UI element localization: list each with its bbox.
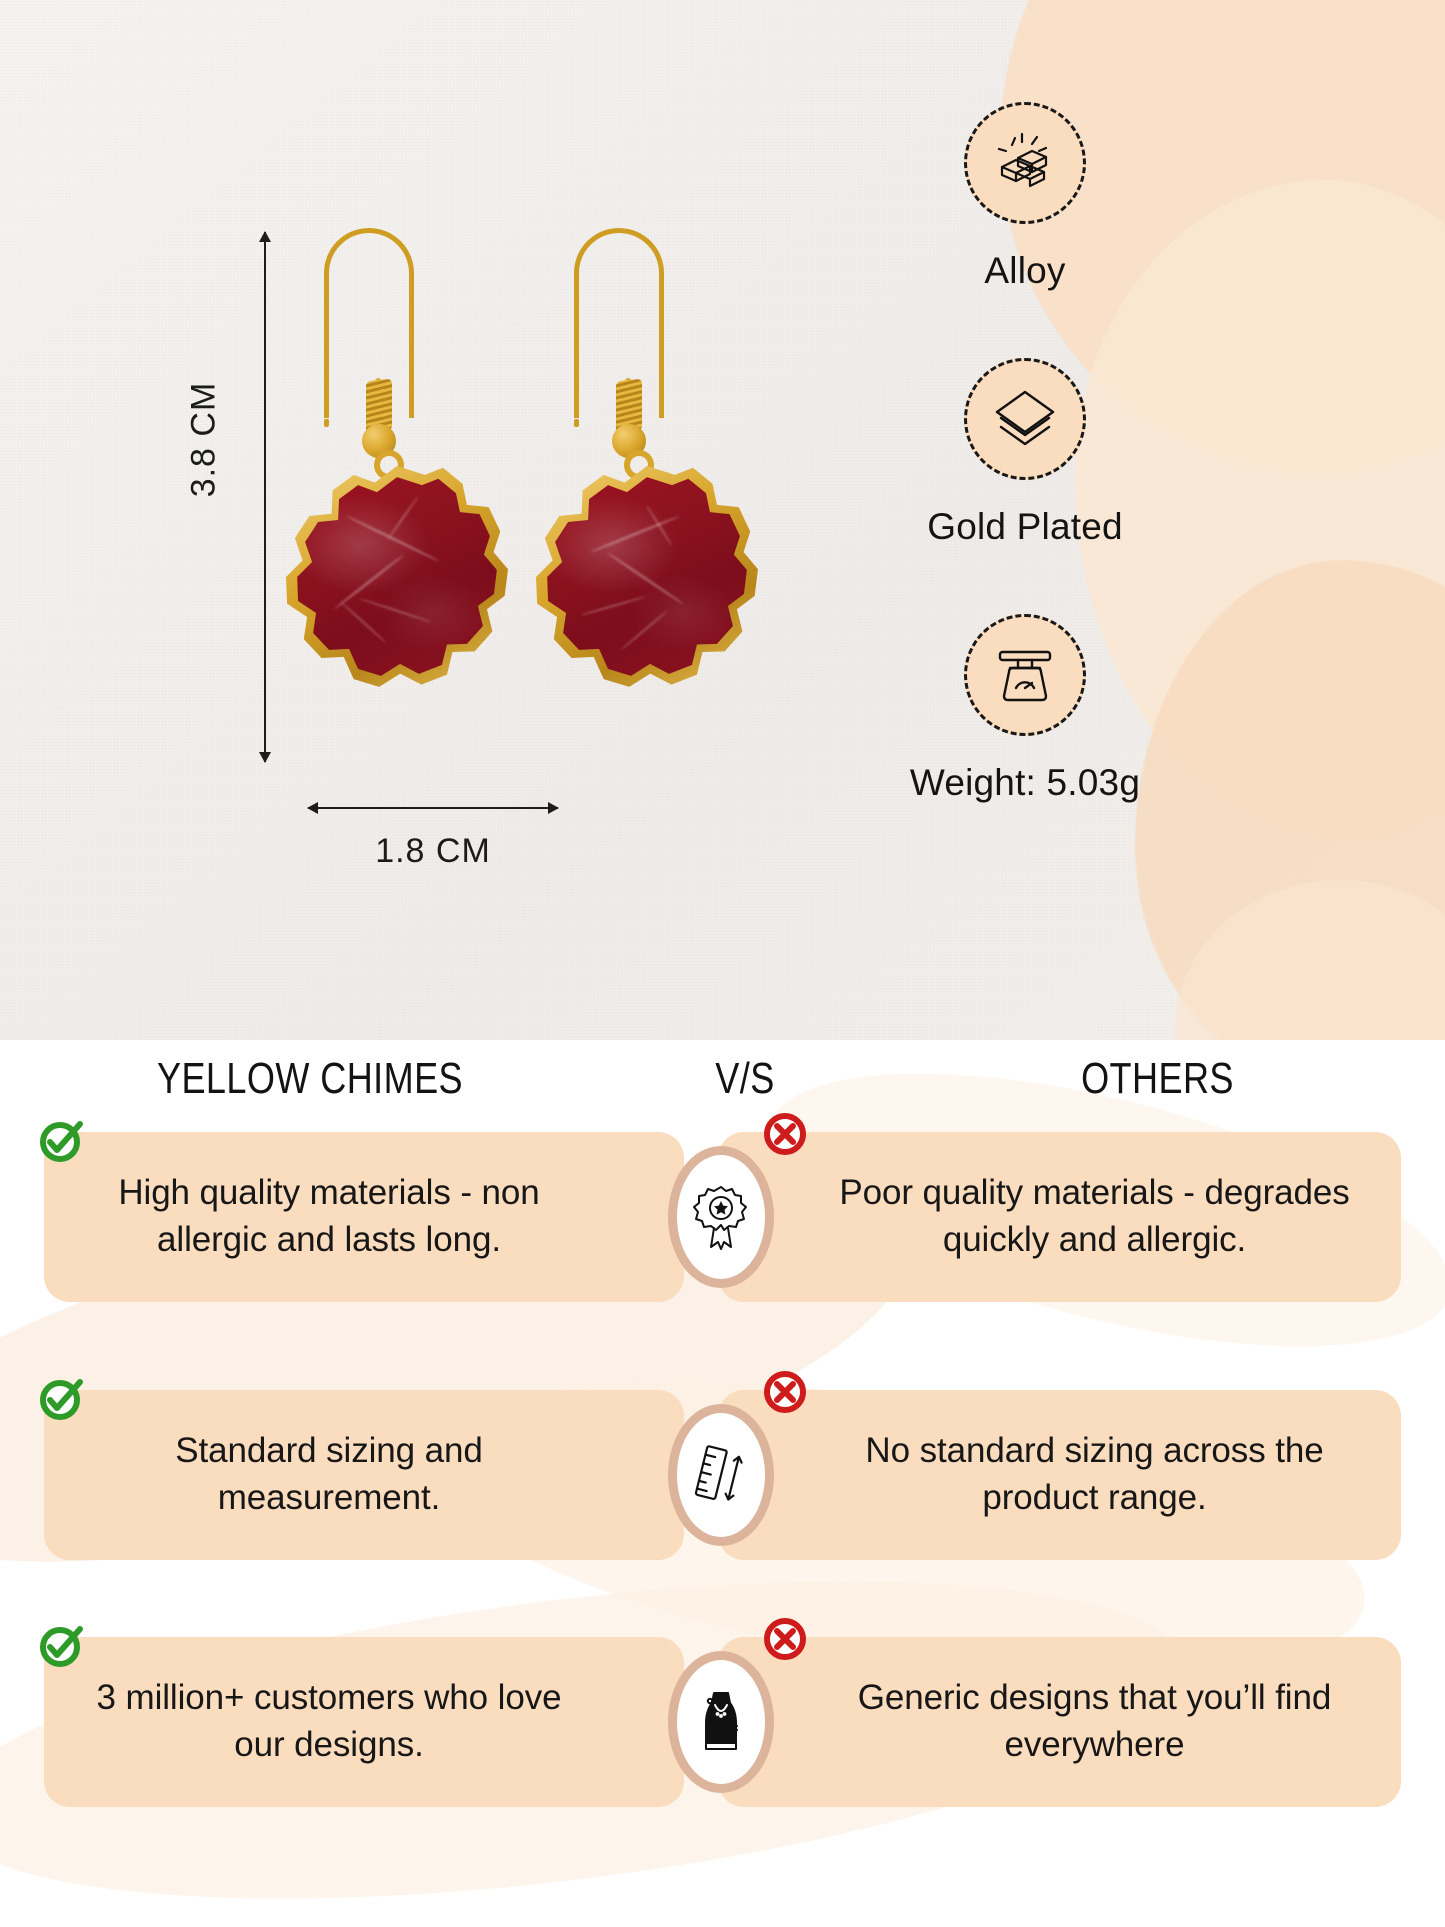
check-circle-icon [36, 1619, 82, 1665]
check-circle-icon [36, 1372, 82, 1418]
feature-label: Gold Plated [875, 506, 1175, 548]
header-others: OTHERS [922, 1054, 1394, 1104]
brand-card: High quality materials - non allergic an… [44, 1132, 684, 1302]
brand-card: 3 million+ customers who love our design… [44, 1637, 684, 1807]
others-card-text: Poor quality materials - degrades quickl… [828, 1170, 1361, 1264]
others-card-text: Generic designs that you’ll find everywh… [828, 1675, 1361, 1769]
header-brand: YELLOW CHIMES [56, 1054, 564, 1104]
brand-card-text: Standard sizing and measurement. [84, 1428, 574, 1522]
feature-icon-circle [964, 102, 1086, 224]
feature-icon-circle [964, 358, 1086, 480]
comparison-section: YELLOW CHIMES V/S OTHERS High quality ma… [0, 1040, 1445, 1927]
weighing-scale-icon [988, 638, 1062, 712]
height-dimension-arrow [264, 232, 266, 762]
others-card: Generic designs that you’ll find everywh… [718, 1637, 1401, 1807]
check-circle-icon [36, 1114, 82, 1160]
feature-gold-plated: Gold Plated [875, 358, 1175, 548]
quality-badge-icon [690, 1183, 752, 1251]
others-card: Poor quality materials - degrades quickl… [718, 1132, 1401, 1302]
brand-card-text: 3 million+ customers who love our design… [84, 1675, 574, 1769]
comparison-row: 3 million+ customers who love our design… [0, 1637, 1445, 1807]
brand-card: Standard sizing and measurement. [44, 1390, 684, 1560]
others-card-text: No standard sizing across the product ra… [828, 1428, 1361, 1522]
x-circle-icon [761, 1110, 807, 1156]
header-versus: V/S [643, 1054, 848, 1104]
x-circle-icon [761, 1615, 807, 1661]
comparison-headers: YELLOW CHIMES V/S OTHERS [0, 1054, 1445, 1104]
infographic-page: 3.8 CM 1.8 CM [0, 0, 1445, 1927]
width-dimension-label: 1.8 CM [308, 832, 558, 871]
feature-weight: Weight: 5.03g [875, 614, 1175, 804]
layers-icon [988, 382, 1062, 456]
ruler-measure-icon [692, 1442, 750, 1508]
earring-stone [286, 466, 508, 688]
comparison-row: Standard sizing and measurement. No stan… [0, 1390, 1445, 1560]
others-card: No standard sizing across the product ra… [718, 1390, 1401, 1560]
x-circle-icon [761, 1368, 807, 1414]
feature-alloy: Alloy [875, 102, 1175, 292]
jewelry-bust-icon [692, 1687, 750, 1757]
comparison-row: High quality materials - non allergic an… [0, 1132, 1445, 1302]
feature-label: Alloy [875, 250, 1175, 292]
gold-bars-icon [988, 126, 1062, 200]
row-center-icon [668, 1651, 774, 1793]
width-dimension-arrow [308, 807, 558, 809]
height-dimension-label: 3.8 CM [184, 382, 223, 498]
feature-icon-circle [964, 614, 1086, 736]
product-section: 3.8 CM 1.8 CM [0, 0, 1445, 1040]
brand-card-text: High quality materials - non allergic an… [84, 1170, 574, 1264]
row-center-icon [668, 1146, 774, 1288]
row-center-icon [668, 1404, 774, 1546]
feature-label: Weight: 5.03g [875, 762, 1175, 804]
earring-stone [536, 466, 758, 688]
